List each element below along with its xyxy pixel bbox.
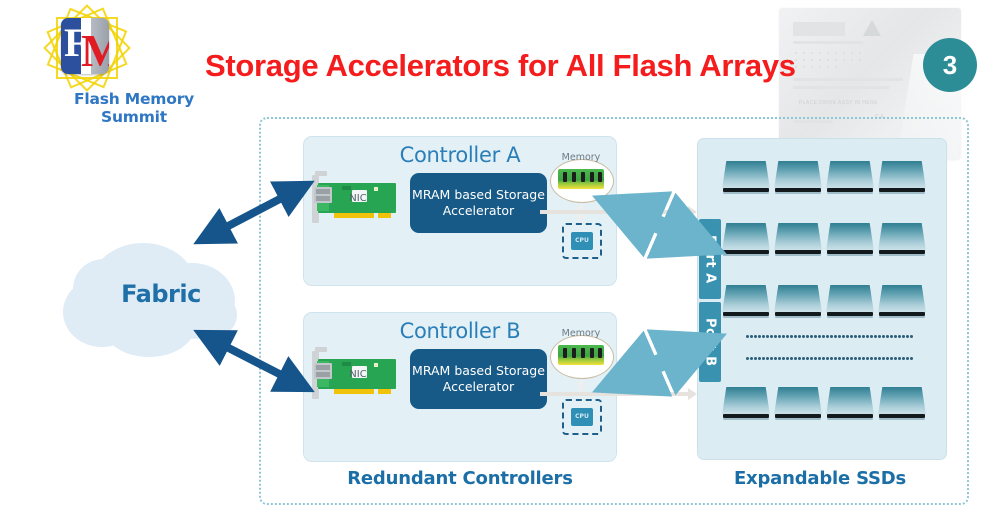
- ssd-enclosure[interactable]: [697, 138, 947, 460]
- ssd-drive-icon: [826, 161, 874, 195]
- cpu-chip-icon: CPU: [562, 399, 602, 435]
- controller-b-nic-label: NIC: [312, 369, 404, 380]
- ssd-drive-icon: [826, 285, 874, 319]
- controller-b-card[interactable]: Controller B NIC MRAM based Storage Acce…: [303, 312, 617, 462]
- ssd-drive-icon: [774, 223, 822, 257]
- brand-name: Flash Memory Summit: [44, 90, 224, 126]
- ssd-drive-icon: [774, 387, 822, 421]
- controller-a-accelerator[interactable]: MRAM based Storage Accelerator: [410, 173, 547, 233]
- caption-expandable-ssds: Expandable SSDs: [700, 468, 940, 489]
- controller-a-bus-arrowhead: [688, 206, 697, 218]
- ssd-drive-icon: [722, 223, 770, 257]
- ssd-drive-icon: [826, 387, 874, 421]
- controller-a-memory-label: Memory: [550, 152, 612, 163]
- port-a-tab[interactable]: Port A: [699, 219, 721, 299]
- ssd-drive-icon: [774, 161, 822, 195]
- slide-canvas: PLACE DRIVE ASSY IN HERE C E F M Flash M…: [0, 0, 1001, 512]
- fabric-label: Fabric: [63, 280, 259, 308]
- controller-b-cpu-label: CPU: [571, 408, 593, 426]
- ssd-drive-icon: [722, 285, 770, 319]
- ssd-drive-icon: [722, 387, 770, 421]
- brand-logo: F M Flash Memory Summit: [44, 8, 184, 108]
- ssd-ellipsis-row: [746, 357, 914, 361]
- controller-a-memory: Memory: [550, 151, 612, 203]
- caption-redundant-controllers: Redundant Controllers: [340, 468, 580, 489]
- controller-b-memory-bus-arrow: [576, 379, 586, 399]
- ssd-drive-icon: [878, 223, 926, 257]
- fabric-cloud: Fabric: [63, 233, 259, 373]
- port-b-tab[interactable]: Port B: [699, 302, 721, 382]
- fm-mark-icon: F M: [61, 18, 109, 74]
- ssd-drive-icon: [878, 387, 926, 421]
- ssd-grid: [718, 153, 936, 445]
- controller-a-bus-line: [540, 210, 690, 214]
- page-title: Storage Accelerators for All Flash Array…: [205, 48, 905, 84]
- dimm-icon: [558, 345, 604, 365]
- ssd-drive-icon: [722, 161, 770, 195]
- ssd-drive-icon: [774, 285, 822, 319]
- cpu-chip-icon: CPU: [562, 223, 602, 259]
- ssd-drive-icon: [878, 161, 926, 195]
- page-number-badge: 3: [923, 38, 977, 92]
- ssd-drive-icon: [826, 223, 874, 257]
- logo-letter-m: M: [81, 28, 109, 74]
- controller-b-bus-line: [540, 392, 690, 396]
- controller-a-cpu-label: CPU: [571, 232, 593, 250]
- ssd-ellipsis-row: [746, 335, 914, 339]
- dimm-icon: [558, 169, 604, 189]
- controller-b-accelerator[interactable]: MRAM based Storage Accelerator: [410, 349, 547, 409]
- ssd-drive-icon: [878, 285, 926, 319]
- controller-b-bus-arrowhead: [688, 388, 697, 400]
- controller-a-nic-label: NIC: [312, 193, 404, 204]
- controller-b-memory: Memory: [550, 327, 612, 379]
- controller-b-memory-label: Memory: [550, 328, 612, 339]
